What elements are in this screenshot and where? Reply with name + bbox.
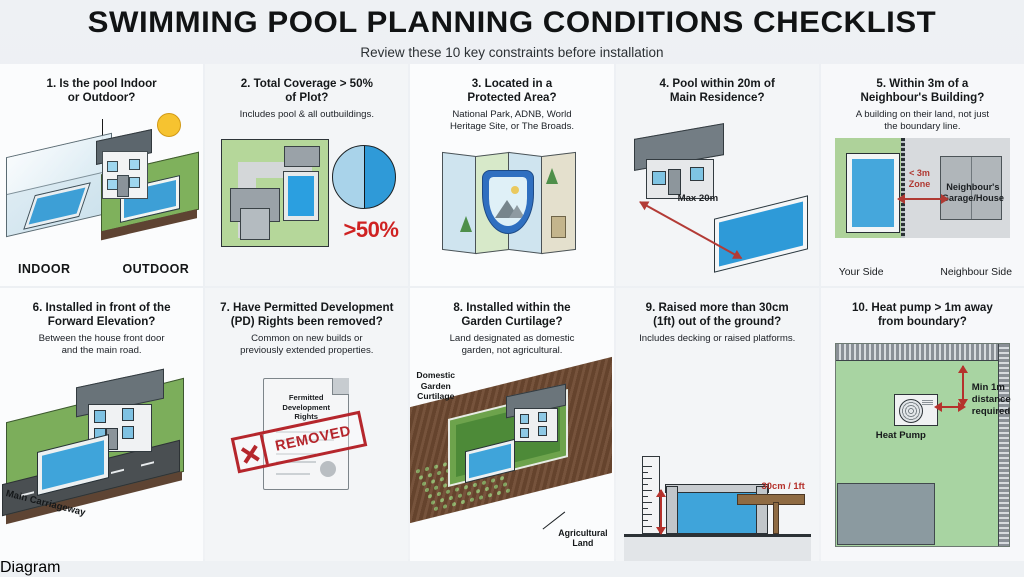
page-subtitle: Review these 10 key constraints before i… (360, 45, 663, 60)
card-illustration-garden-curtilage: Domestic Garden Curtilage Agricultural L… (410, 356, 613, 561)
height-label: 30cm / 1ft (762, 480, 805, 491)
crop-dot (434, 485, 438, 490)
height-arrow (660, 490, 662, 534)
tree-icon (546, 168, 558, 184)
outbuilding-shape (284, 146, 320, 167)
card-title: 3. Located in a Protected Area? (467, 77, 556, 105)
crop-dot (422, 481, 426, 486)
crop-dot (428, 494, 432, 499)
plot-plan-shape (221, 139, 329, 247)
zone-label: < 3m Zone (909, 168, 931, 189)
card-subtitle: National Park, ADNB, World Heritage Site… (450, 109, 574, 132)
card-illustration-protected-area (410, 132, 613, 286)
crop-dot (437, 471, 441, 476)
house-shape (634, 131, 722, 197)
min-distance-label: Min 1m distance required (972, 382, 1011, 418)
crop-dot (425, 467, 429, 472)
ground-line (624, 534, 811, 537)
agricultural-land-label: Agricultural Land (558, 528, 607, 549)
tree-icon (460, 216, 472, 232)
checklist-card-9[interactable]: 9. Raised more than 30cm (1ft) out of th… (616, 288, 819, 561)
card-subtitle: Includes decking or raised platforms. (639, 333, 795, 345)
building-shape (837, 483, 935, 545)
your-side-label: Your Side (839, 267, 884, 278)
pool-shape (847, 154, 899, 232)
crop-dot (443, 462, 447, 467)
crop-dot (473, 483, 477, 488)
crop-dot (440, 498, 444, 503)
crop-dot (437, 492, 441, 497)
crop-dot (434, 506, 438, 511)
crop-dot (434, 464, 438, 469)
crop-dot (458, 493, 462, 498)
monument-icon (551, 216, 566, 238)
card-title: 6. Installed in front of the Forward Ele… (33, 301, 171, 329)
card-illustration-forward-elevation: Main Carriageway (0, 356, 203, 561)
decking-leg-shape (773, 502, 779, 534)
boundary-line (901, 138, 905, 238)
crop-dot (467, 491, 471, 496)
pool-post-shape (666, 486, 678, 534)
crop-dot (416, 469, 420, 474)
card-illustration-heat-pump: Heat Pump Min 1m distance required (821, 329, 1024, 561)
house-annex-shape (240, 208, 270, 240)
below-ground-area (624, 537, 811, 561)
pool-shape (715, 197, 807, 272)
crop-dot (431, 500, 435, 505)
crop-dot (446, 489, 450, 494)
cross-icon (234, 435, 269, 470)
crop-dot (488, 493, 492, 498)
crop-dot (464, 485, 468, 490)
card-title: 7. Have Permitted Development (PD) Right… (220, 301, 393, 329)
crop-dot (494, 485, 498, 490)
coverage-percent-label: >50% (344, 217, 399, 243)
checklist-card-7[interactable]: 7. Have Permitted Development (PD) Right… (205, 288, 408, 561)
checklist-card-8[interactable]: 8. Installed within the Garden Curtilage… (410, 288, 613, 561)
crop-dot (419, 475, 423, 480)
crop-dot (491, 478, 495, 483)
card-subtitle: Includes pool & all outbuildings. (240, 109, 374, 121)
fence-right (998, 344, 1009, 546)
card-illustration-pd-rights: Fermitted Development Rights REMOVED (205, 356, 408, 561)
infographic-page: SWIMMING POOL PLANNING CONDITIONS CHECKL… (0, 0, 1024, 559)
house-shape (506, 390, 564, 442)
crop-dot (452, 502, 456, 507)
crop-dot (482, 481, 486, 486)
card-title: 2. Total Coverage > 50% of Plot? (241, 77, 373, 105)
card-subtitle: Land designated as domestic garden, not … (450, 333, 575, 356)
garden-area: Heat Pump Min 1m distance required (835, 343, 1010, 547)
door-shape (117, 175, 129, 197)
card-title: 1. Is the pool Indoor or Outdoor? (47, 77, 157, 105)
heat-pump-icon (894, 394, 938, 426)
fan-icon (899, 399, 923, 423)
card-title: 5. Within 3m of a Neighbour's Building? (860, 77, 984, 105)
horizontal-distance-arrow (936, 406, 964, 408)
card-illustration-pool-distance: Max 20m (616, 105, 819, 286)
card-title: 9. Raised more than 30cm (1ft) out of th… (646, 301, 789, 329)
coverage-pie-chart (332, 145, 396, 209)
card-illustration-indoor-outdoor: INDOOR OUTDOOR (0, 105, 203, 286)
crop-dot (479, 495, 483, 500)
checklist-card-10[interactable]: 10. Heat pump > 1m away from boundary? H… (821, 288, 1024, 561)
checklist-card-6[interactable]: 6. Installed in front of the Forward Ele… (0, 288, 203, 561)
checklist-card-2[interactable]: 2. Total Coverage > 50% of Plot? Include… (205, 64, 408, 286)
crop-dot (497, 491, 501, 496)
crop-dot (470, 498, 474, 503)
card-subtitle: Between the house front door and the mai… (39, 333, 165, 356)
card-illustration-plot-coverage: >50% (205, 121, 408, 286)
decking-shape (737, 494, 805, 505)
card-illustration-neighbour-boundary: Neighbour's Garage/House < 3m Zone Your … (821, 132, 1024, 286)
card-illustration-raised-pool: 30cm / 1ft (616, 345, 819, 561)
checklist-grid: 1. Is the pool Indoor or Outdoor? (0, 64, 1024, 559)
neighbour-building-label: Neighbour's Garage/House (942, 182, 1004, 204)
card-subtitle: A building on their land, not just the b… (856, 109, 989, 132)
crop-dot (440, 477, 444, 482)
checklist-card-1[interactable]: 1. Is the pool Indoor or Outdoor? (0, 64, 203, 286)
crop-dot (500, 476, 504, 481)
card-title: 8. Installed within the Garden Curtilage… (453, 301, 570, 329)
folded-map-shape (442, 154, 572, 250)
zone-arrow (899, 198, 947, 200)
crop-dot (485, 487, 489, 492)
crop-dot (443, 483, 447, 488)
crop-dot (428, 473, 432, 478)
door-shape (668, 169, 681, 195)
vent-icon (922, 400, 933, 406)
label-indoor: INDOOR (18, 262, 70, 276)
seal-shape (320, 461, 336, 477)
heat-pump-label: Heat Pump (876, 430, 926, 441)
checklist-card-4[interactable]: 4. Pool within 20m of Main Residence? Ma… (616, 64, 819, 286)
checklist-card-3[interactable]: 3. Located in a Protected Area? National… (410, 64, 613, 286)
crop-dot (431, 479, 435, 484)
crop-dot (461, 500, 465, 505)
checklist-card-5[interactable]: 5. Within 3m of a Neighbour's Building? … (821, 64, 1024, 286)
sun-icon (157, 113, 181, 137)
crop-dot (443, 504, 447, 509)
label-outdoor: OUTDOOR (123, 262, 190, 276)
crop-dot (455, 487, 459, 492)
curtilage-label: Domestic Garden Curtilage (416, 370, 455, 401)
pool-shape (284, 172, 318, 220)
page-title: SWIMMING POOL PLANNING CONDITIONS CHECKL… (88, 4, 937, 38)
house-shape (96, 129, 148, 197)
card-subtitle: Common on new builds or previously exten… (240, 333, 373, 356)
header: SWIMMING POOL PLANNING CONDITIONS CHECKL… (0, 0, 1024, 64)
fence-top (836, 344, 1009, 361)
crop-dot (449, 496, 453, 501)
crop-dot (425, 488, 429, 493)
crop-dot (476, 489, 480, 494)
vertical-distance-arrow (962, 366, 964, 406)
neighbour-side-label: Neighbour Side (940, 267, 1012, 278)
max-distance-label: Max 20m (678, 193, 719, 204)
leader-line (542, 511, 565, 529)
card-title: 4. Pool within 20m of Main Residence? (660, 77, 775, 105)
crop-dot (503, 482, 507, 487)
crop-dot (506, 489, 510, 494)
card-title: 10. Heat pump > 1m away from boundary? (852, 301, 993, 329)
